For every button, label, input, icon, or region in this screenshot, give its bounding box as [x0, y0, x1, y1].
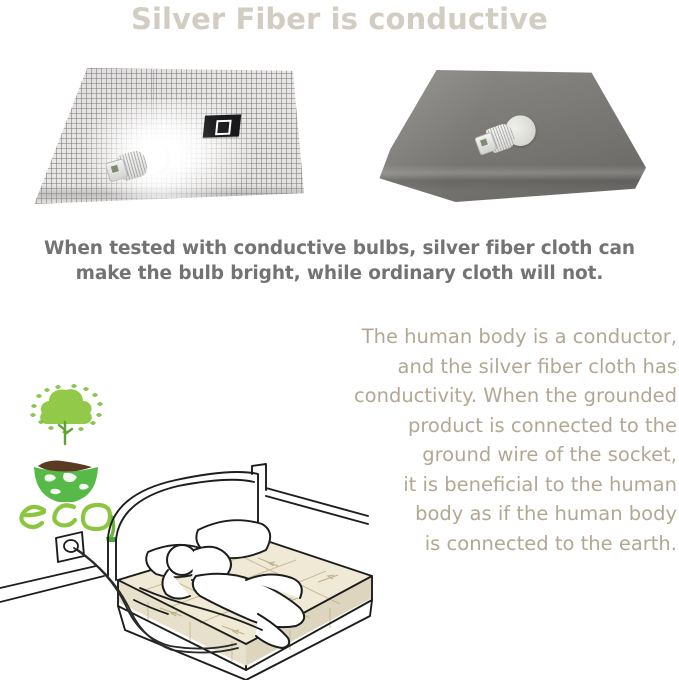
cloth-label-patch: [203, 114, 241, 137]
body-line-2: and the silver fiber cloth has: [257, 352, 677, 382]
caption-line-2: make the bulb bright, while ordinary clo…: [0, 261, 679, 286]
silver-cloth-edge-shadow: [26, 68, 304, 204]
body-line-1: The human body is a conductor,: [257, 322, 677, 352]
page-title: Silver Fiber is conductive: [0, 2, 679, 36]
infographic-page: Silver Fiber is conductive: [0, 0, 679, 680]
silver-cloth-fold-line: [153, 70, 154, 198]
test-result-caption: When tested with conductive bulbs, silve…: [0, 236, 679, 286]
silver-fiber-cloth-photo: [8, 52, 320, 217]
product-photo-row: [0, 52, 679, 217]
body-line-3: conductivity. When the grounded: [257, 381, 677, 411]
wall-socket-icon: [56, 532, 84, 562]
wall-line: [0, 566, 104, 602]
ordinary-cloth-photo: [352, 52, 664, 217]
caption-line-1: When tested with conductive bulbs, silve…: [0, 236, 679, 261]
grounded-bed-sketch: [0, 430, 430, 680]
